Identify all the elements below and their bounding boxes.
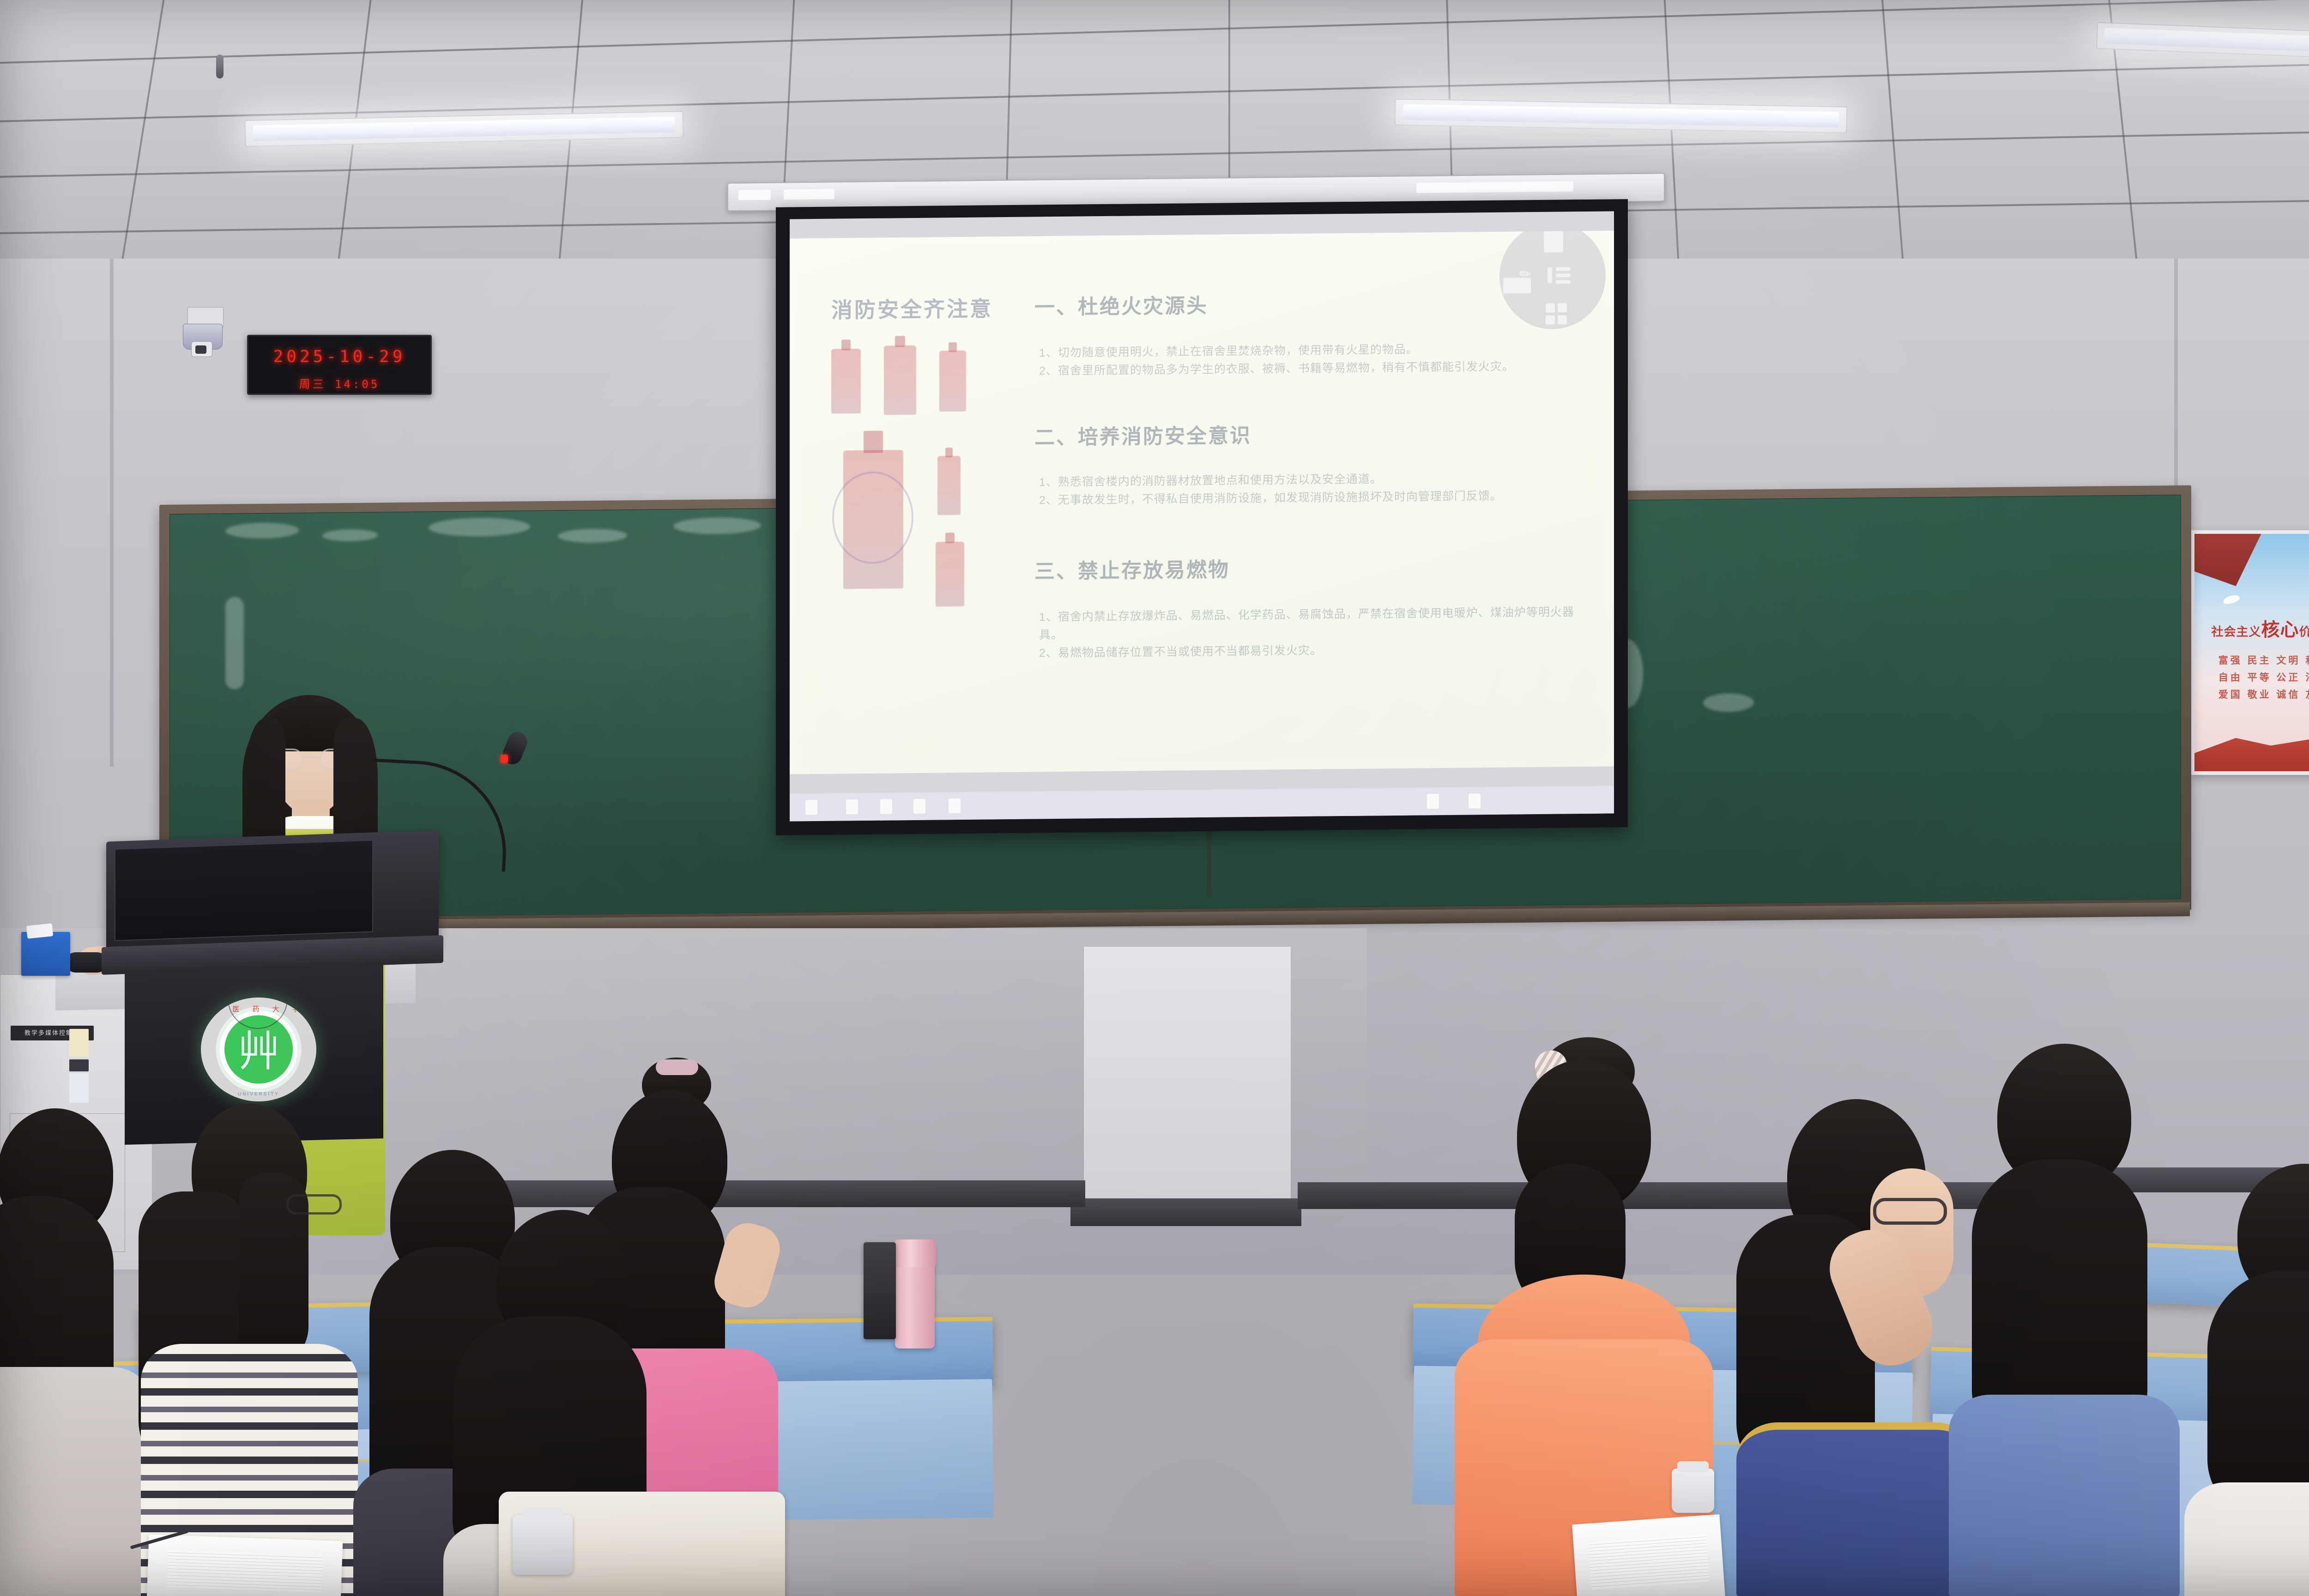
student-s7: [1736, 1099, 1977, 1596]
wall-led-clock: 2025-10-29 周三 14:05: [247, 335, 432, 395]
student-s9: [2198, 1164, 2309, 1596]
student-s2-glasses: [286, 1194, 342, 1215]
tablet-device[interactable]: [864, 1242, 896, 1339]
computer-mouse[interactable]: [66, 952, 107, 973]
list-icon[interactable]: [1547, 267, 1552, 283]
bottle-on-desk: [513, 1515, 573, 1575]
projection-screen: ✎ 消防安全齐注意: [776, 199, 1628, 835]
pink-thermos-bottle: [895, 1242, 935, 1348]
microphone-status-led: [501, 755, 508, 763]
slide-body-1: 1、切勿随意使用明火，禁止在宿舍里焚烧杂物，使用带有火星的物品。 2、宿舍里所配…: [1039, 339, 1582, 380]
slide-title: 消防安全齐注意: [831, 292, 993, 324]
led-clock-time: 周三 14:05: [248, 375, 430, 391]
grid-icon[interactable]: [1546, 303, 1555, 313]
taskbar-icon-7[interactable]: [1469, 793, 1481, 808]
slide-body-3: 1、宿舍内禁止存放爆炸品、易燃品、化学药品、易腐蚀品，严禁在宿舍使用电暖炉、煤油…: [1039, 603, 1582, 662]
university-emblem: 中 医 药 大 学 艸 UNIVERSITY: [201, 997, 316, 1101]
slide-body-2: 1、熟悉宿舍楼内的消防器材放置地点和使用方法以及安全通道。 2、无事故发生时，不…: [1039, 468, 1582, 509]
projected-slide: ✎ 消防安全齐注意: [790, 230, 1614, 774]
white-tumbler: [1672, 1469, 1714, 1513]
notebook-2: [147, 1535, 343, 1596]
student-s8: [1958, 1044, 2170, 1596]
cabinet-sticker-2: [69, 1059, 89, 1071]
student-s2: [152, 1104, 346, 1596]
student-s7-glasses: [1873, 1198, 1947, 1225]
wall-camera-sensor: [181, 307, 227, 363]
socialist-core-values-poster: 社会主义核心价值观 富强 民主 文明 和谐 自由 平等 公正 法治 爱国 敬业 …: [2191, 530, 2309, 775]
taskbar-icon-5[interactable]: [949, 798, 961, 813]
poster-values: 富强 民主 文明 和谐 自由 平等 公正 法治 爱国 敬业 诚信 友善: [2194, 653, 2309, 703]
student-s4-scrunchie: [656, 1059, 698, 1075]
slide-heading-2: 二、培养消防安全意识: [1034, 419, 1251, 451]
lectern-monitor[interactable]: [115, 840, 373, 941]
notebook-1: [1572, 1514, 1725, 1596]
taskbar-icon-6[interactable]: [1427, 794, 1439, 809]
cabinet-sticker-3: [69, 1073, 89, 1103]
slide-heading-1: 一、杜绝火灾源头: [1034, 289, 1208, 320]
taskbar-icon-3[interactable]: [880, 799, 892, 814]
tissue-sheet: [26, 923, 54, 939]
led-clock-date: 2025-10-29: [248, 347, 430, 366]
window-icon[interactable]: [1503, 278, 1531, 294]
taskbar-icon-2[interactable]: [846, 799, 858, 814]
student-s1: [0, 1108, 139, 1596]
poster-headline: 社会主义核心价值观: [2194, 615, 2309, 641]
desktop-taskbar[interactable]: [790, 786, 1614, 821]
student-s6: [1473, 1044, 1695, 1596]
classroom-photo-scene: 2025-10-29 周三 14:05 社会主义核心价值观 富强 民主 文明 和…: [0, 0, 2309, 1596]
screen-surface: ✎ 消防安全齐注意: [790, 211, 1614, 821]
taskbar-icon-1[interactable]: [805, 800, 817, 815]
emblem-ring-text-bottom: UNIVERSITY: [201, 1092, 316, 1097]
emblem-arc-reflection: [228, 997, 288, 1029]
fire-extinguisher-illustration: [827, 343, 1011, 723]
cabinet-sticker-1: [69, 1029, 89, 1057]
emblem-glyph: 艸: [237, 1030, 280, 1073]
ceiling-hook: [216, 54, 224, 79]
taskbar-icon-4[interactable]: [913, 799, 925, 814]
dove-icon: [2222, 593, 2240, 605]
slide-heading-3: 三、禁止存放易燃物: [1034, 553, 1230, 584]
tiananmen-illustration: [2194, 724, 2309, 771]
dais-riser: [1083, 947, 1291, 1219]
dais-base-trim: [1070, 1198, 1301, 1226]
note-icon[interactable]: [1544, 231, 1563, 252]
